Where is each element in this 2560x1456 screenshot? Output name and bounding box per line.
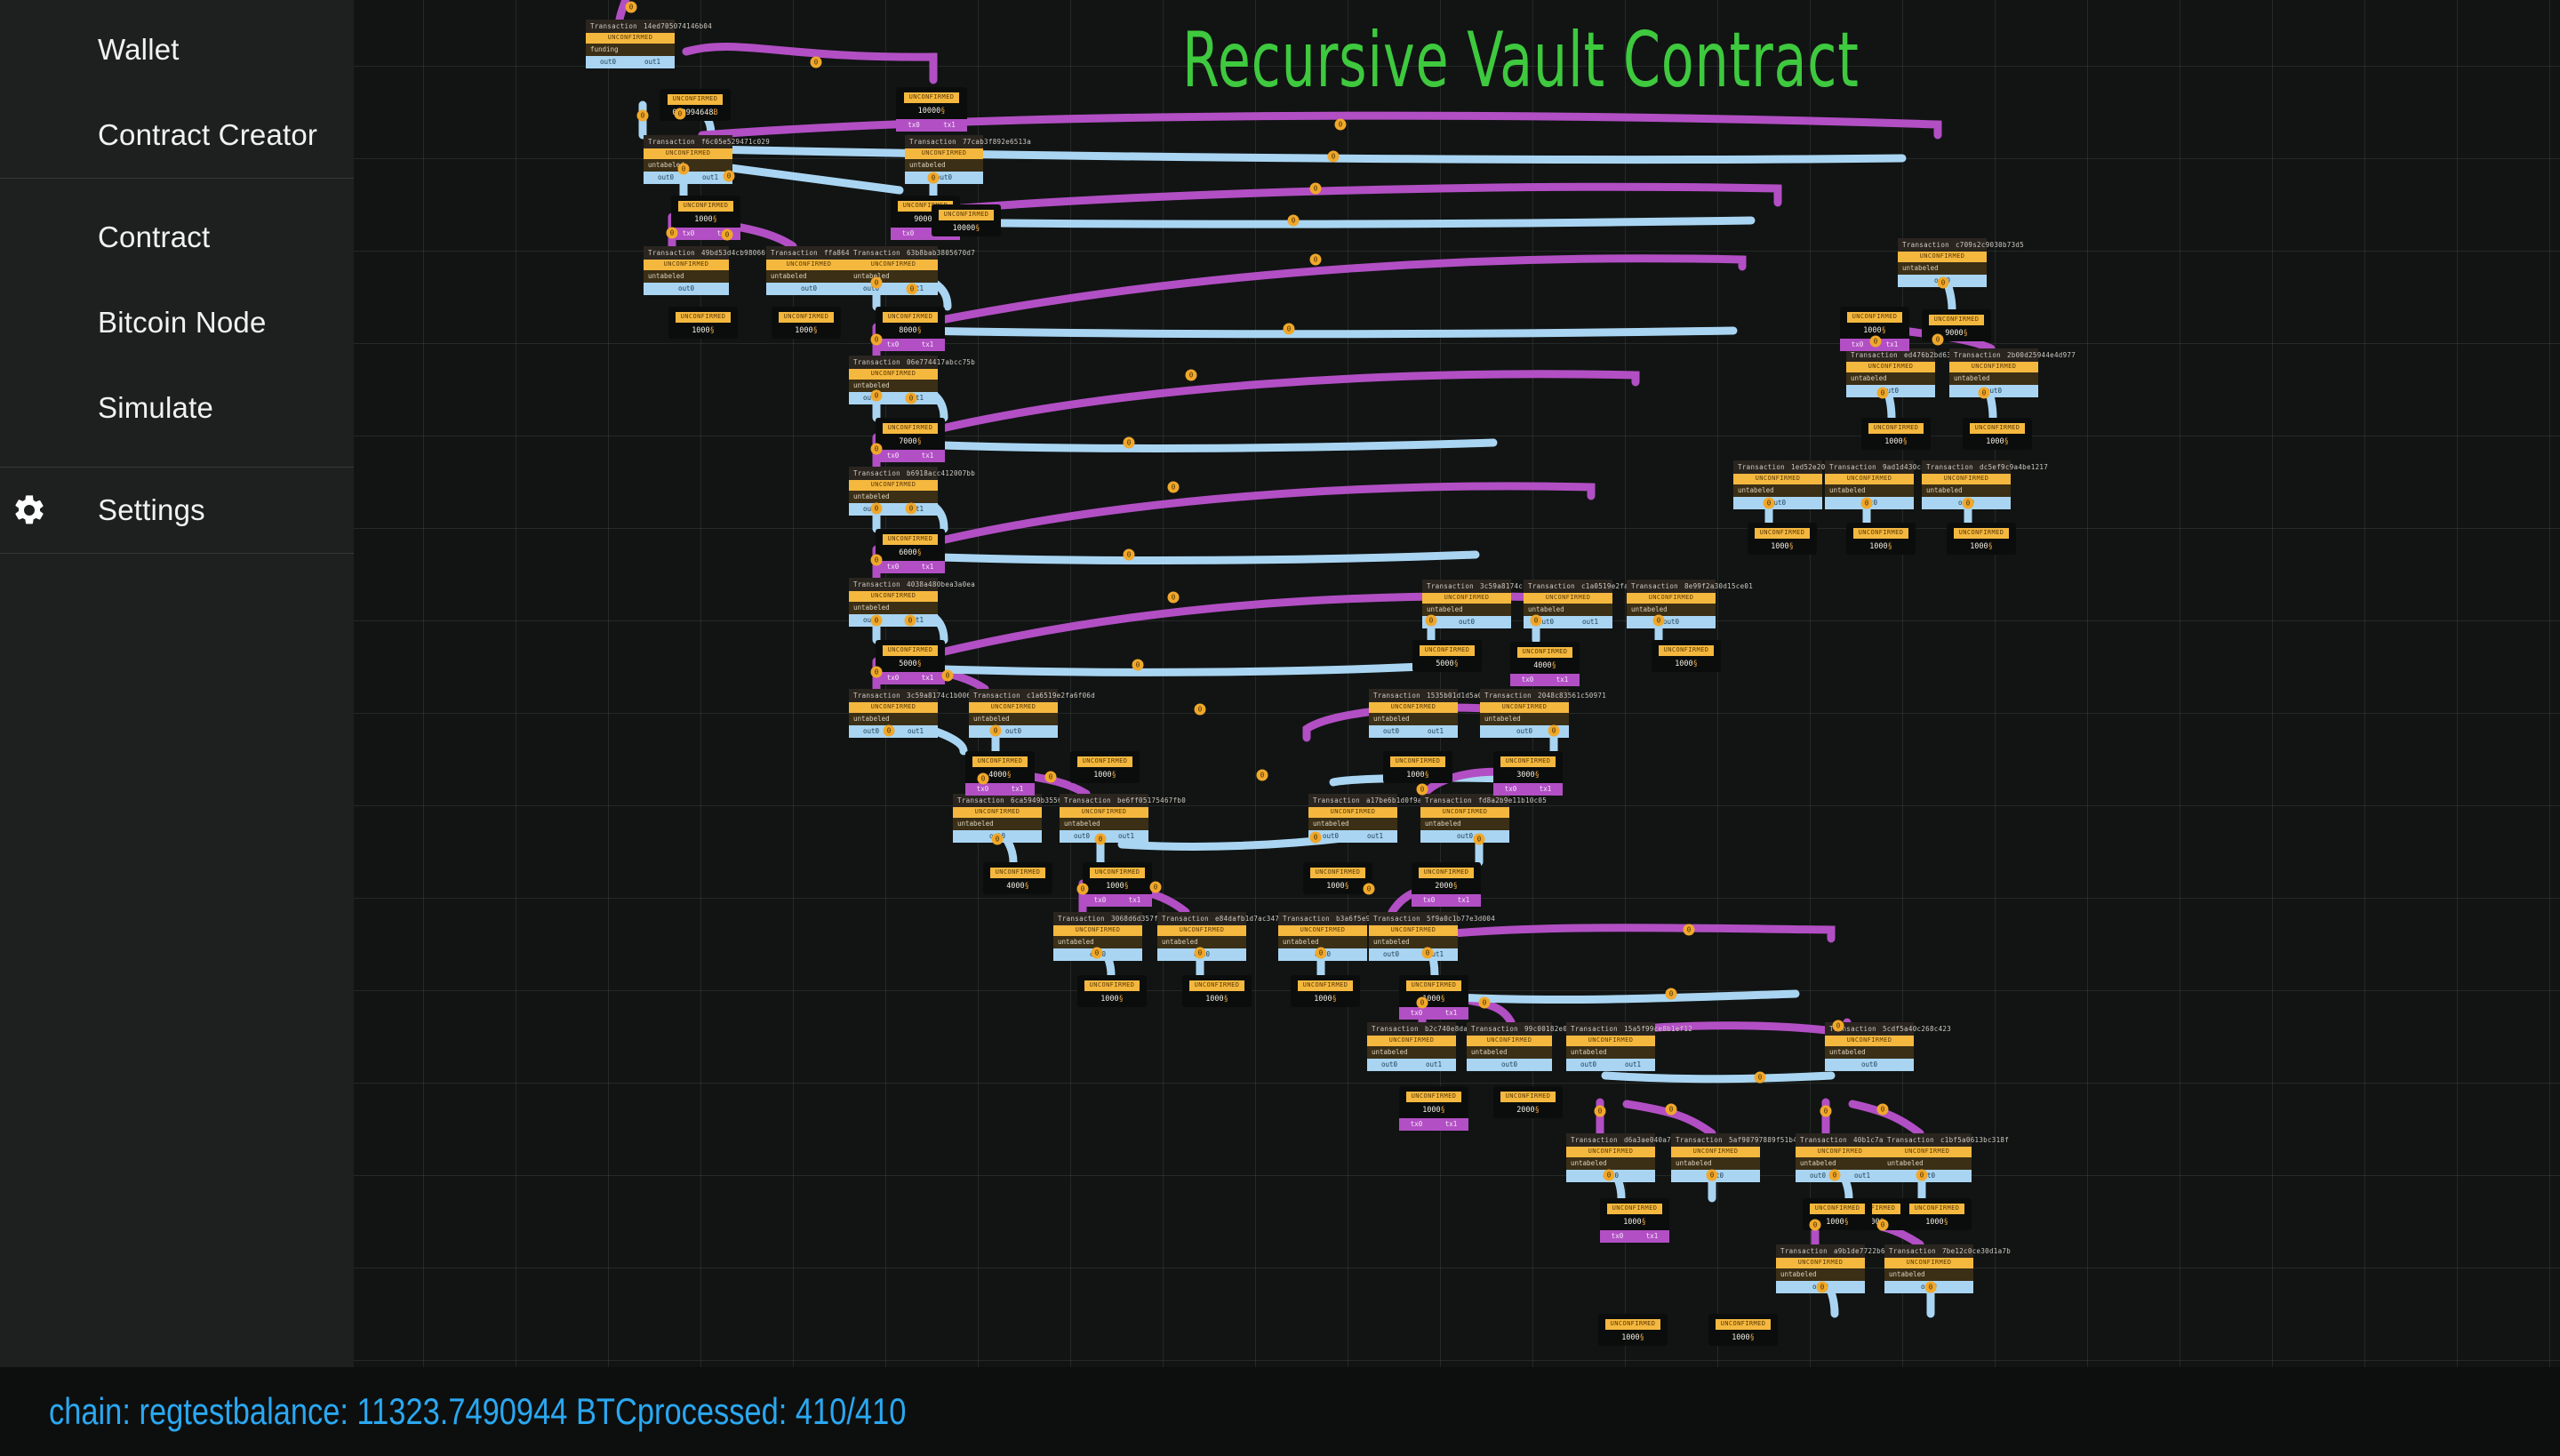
utxo-amount: 1000§	[1600, 1214, 1669, 1231]
transaction-header: Transactionffa8641749d159aa	[766, 246, 852, 260]
spend-port-1[interactable]: tx1	[943, 122, 956, 129]
status-badge: UNCONFIRMED	[1369, 925, 1458, 936]
utxo-node[interactable]: UNCONFIRMED1000§	[1598, 1314, 1668, 1346]
utxo-status-row: UNCONFIRMED	[1922, 309, 1991, 325]
transaction-label: untabeled	[1369, 713, 1458, 726]
utxo-amount: 1000§	[1182, 991, 1252, 1008]
output-port-0[interactable]: out0	[1383, 728, 1399, 735]
status-badge: UNCONFIRMED	[766, 260, 852, 270]
utxo-node[interactable]: UNCONFIRMED1000§	[1383, 751, 1452, 783]
utxo-node[interactable]: UNCONFIRMED1000§	[668, 307, 738, 339]
transaction-label: funding	[586, 44, 675, 57]
transaction-label: untabeled	[1060, 818, 1148, 831]
spend-port-0[interactable]: tx0	[1411, 1010, 1423, 1017]
transaction-label: untabeled	[849, 602, 938, 615]
transaction-label: untabeled	[1420, 818, 1509, 831]
edge-index-badge: 0	[871, 667, 883, 678]
status-badge: UNCONFIRMED	[1298, 980, 1354, 991]
utxo-amount: 1000§	[1399, 991, 1468, 1008]
utxo-node[interactable]: UNCONFIRMED1000§tx0tx1	[1083, 862, 1152, 907]
transaction-label: untabeled	[1369, 936, 1458, 949]
utxo-status-row: UNCONFIRMED	[1077, 975, 1147, 991]
utxo-node[interactable]: UNCONFIRMED1000§	[1748, 523, 1817, 555]
status-badge: UNCONFIRMED	[1825, 1036, 1914, 1046]
currency-symbol-icon: §	[1988, 542, 1993, 551]
utxo-node[interactable]: UNCONFIRMED1000§	[1846, 523, 1916, 555]
transaction-node[interactable]: Transaction5f9a0c1b77e3d004UNCONFIRMEDun…	[1369, 912, 1458, 961]
utxo-node[interactable]: UNCONFIRMED4000§	[983, 862, 1052, 894]
output-port-0[interactable]: out0	[801, 285, 817, 292]
output-port-0[interactable]: out0	[1516, 728, 1532, 735]
utxo-node[interactable]: UNCONFIRMED5000§tx0tx1	[876, 640, 945, 684]
transaction-prefix: Transaction	[1887, 1136, 1934, 1144]
currency-symbol-icon: §	[1964, 329, 1968, 338]
spend-port-0[interactable]: tx0	[887, 675, 900, 682]
sidebar-item-wallet[interactable]: Wallet	[0, 7, 354, 92]
transaction-node[interactable]: Transactionb2c740e8da91033bUNCONFIRMEDun…	[1367, 1022, 1456, 1071]
output-port-0[interactable]: out0	[1323, 833, 1339, 840]
utxo-amount: 1000§	[1963, 434, 2032, 451]
utxo-amount: 1000§	[1077, 991, 1147, 1008]
transaction-node[interactable]: Transaction1ed52e20ab1163baUNCONFIRMEDun…	[1733, 460, 1822, 509]
utxo-node[interactable]: UNCONFIRMED5000§	[1412, 640, 1482, 672]
transaction-label: untabeled	[1898, 262, 1987, 276]
status-badge: UNCONFIRMED	[1566, 1147, 1655, 1157]
spend-port-1[interactable]: tx1	[1458, 897, 1470, 904]
utxo-node[interactable]: UNCONFIRMED4000§tx0tx1	[965, 751, 1035, 796]
output-port-0[interactable]: out0	[600, 59, 616, 66]
utxo-node[interactable]: UNCONFIRMED2000§tx0tx1	[1412, 862, 1481, 907]
edge-index-badge: 0	[1284, 324, 1295, 335]
output-port-0[interactable]: out0	[1383, 951, 1399, 958]
spend-port-0[interactable]: tx0	[1094, 897, 1107, 904]
transaction-header: Transaction1ed52e20ab1163ba	[1733, 460, 1822, 474]
spend-port-1[interactable]: tx1	[1556, 676, 1569, 684]
edge-index-badge: 0	[1417, 784, 1428, 796]
transaction-outputs: out0	[1846, 385, 1935, 397]
transaction-hash: 7be12c0ce30d1a7b	[1942, 1247, 2011, 1255]
spend-port-0[interactable]: tx0	[1522, 676, 1534, 684]
transaction-prefix: Transaction	[909, 138, 956, 146]
spend-port-0[interactable]: tx0	[887, 452, 900, 460]
transaction-prefix: Transaction	[1484, 692, 1532, 700]
utxo-node[interactable]: UNCONFIRMED1000§	[1070, 751, 1140, 783]
transaction-header: Transaction14ed705074146b04	[586, 20, 675, 33]
edge-index-badge: 0	[1124, 437, 1135, 449]
status-badge: UNCONFIRMED	[1420, 645, 1476, 656]
output-port-1[interactable]: out1	[1428, 728, 1444, 735]
output-port-0[interactable]: out0	[1459, 619, 1475, 626]
output-port-1[interactable]: out1	[644, 59, 660, 66]
utxo-amount: 2000§	[1412, 878, 1481, 895]
sidebar-item-contract[interactable]: Contract	[0, 195, 354, 280]
utxo-node[interactable]: UNCONFIRMED1000§	[1861, 418, 1931, 450]
spend-port-1[interactable]: tx1	[1129, 897, 1141, 904]
status-badge: UNCONFIRMED	[939, 210, 995, 220]
output-port-1[interactable]: out1	[1625, 1061, 1641, 1068]
spend-port-0[interactable]: tx0	[887, 564, 900, 571]
sidebar-item-bitcoin-node[interactable]: Bitcoin Node	[0, 280, 354, 365]
utxo-node[interactable]: UNCONFIRMED1000§	[1077, 975, 1147, 1007]
status-badge: UNCONFIRMED	[1278, 925, 1367, 936]
spend-port-1[interactable]: tx1	[1540, 786, 1552, 793]
status-badge: UNCONFIRMED	[1884, 1258, 1973, 1268]
sidebar-item-contract-creator[interactable]: Contract Creator	[0, 92, 354, 178]
transaction-node[interactable]: Transaction8e99f2a30d15ce01UNCONFIRMEDun…	[1627, 580, 1716, 628]
utxo-spend-ports: tx0tx1	[876, 450, 945, 462]
currency-symbol-icon: §	[1535, 1106, 1540, 1115]
currency-symbol-icon: §	[1441, 995, 1445, 1004]
transaction-node[interactable]: Transactioned476b2bd6301904UNCONFIRMEDun…	[1846, 348, 1935, 397]
transaction-header: Transactionc1a0519e2fa6f06d	[1524, 580, 1612, 593]
transaction-outputs: out0out1	[1566, 1059, 1655, 1071]
utxo-amount: 4000§	[983, 878, 1052, 895]
output-port-0[interactable]: out0	[1861, 1061, 1877, 1068]
status-badge: UNCONFIRMED	[1627, 593, 1716, 604]
edge-index-badge: 0	[1316, 948, 1327, 959]
utxo-status-row: UNCONFIRMED	[1598, 1314, 1668, 1330]
transaction-node[interactable]: Transactionffa8641749d159aaUNCONFIRMEDun…	[766, 246, 852, 295]
transaction-label: untabeled	[1922, 484, 2011, 498]
transaction-node[interactable]: Transaction77cab3f892e6513aUNCONFIRMEDun…	[905, 135, 983, 184]
utxo-node[interactable]: UNCONFIRMED1000§	[1708, 1314, 1778, 1346]
transaction-header: Transactionb2c740e8da91033b	[1367, 1022, 1456, 1036]
utxo-status-row: UNCONFIRMED	[1412, 862, 1481, 878]
output-port-1[interactable]: out1	[908, 728, 924, 735]
spend-port-1[interactable]: tx1	[922, 452, 934, 460]
output-port-0[interactable]: out0	[1005, 728, 1021, 735]
utxo-node[interactable]: UNCONFIRMED1000§	[1902, 1198, 1972, 1230]
transaction-prefix: Transaction	[648, 249, 695, 257]
status-text: chain: regtestbalance: 11323.7490944 BTC…	[49, 1390, 906, 1433]
utxo-status-row: UNCONFIRMED	[896, 87, 967, 103]
status-badge: UNCONFIRMED	[1157, 925, 1246, 936]
utxo-status-row: UNCONFIRMED	[1291, 975, 1360, 991]
sidebar: WalletContract Creator ContractBitcoin N…	[0, 0, 354, 1367]
output-port-1[interactable]: out1	[1426, 1061, 1442, 1068]
transaction-header: Transaction3c59a8174c1b0061	[849, 689, 938, 702]
edge-index-badge: 0	[1195, 948, 1206, 959]
edge-index-badge: 0	[871, 390, 883, 402]
transaction-header: Transactionfd8a2b9e11b10c05	[1420, 794, 1509, 807]
transaction-hash: 15a5f99ce8b1ef12	[1624, 1025, 1692, 1033]
utxo-status-row: UNCONFIRMED	[1510, 642, 1580, 658]
transaction-hash: 63b8bab3805670d7	[907, 249, 975, 257]
utxo-node[interactable]: UNCONFIRMED2000§	[1493, 1086, 1563, 1118]
output-port-0[interactable]: out0	[1663, 619, 1679, 626]
edge-index-badge: 0	[1150, 882, 1162, 893]
utxo-status-row: UNCONFIRMED	[1383, 751, 1452, 767]
status-badge: UNCONFIRMED	[1898, 252, 1987, 262]
currency-symbol-icon: §	[1345, 882, 1349, 891]
spend-port-0[interactable]: tx0	[683, 230, 695, 237]
transaction-prefix: Transaction	[1889, 1247, 1936, 1255]
utxo-node[interactable]: UNCONFIRMED1000§	[1652, 640, 1721, 672]
transaction-label: untabeled	[1733, 484, 1822, 498]
status-badge: UNCONFIRMED	[1853, 528, 1909, 539]
spend-port-0[interactable]: tx0	[1612, 1233, 1624, 1240]
utxo-status-row: UNCONFIRMED	[876, 307, 945, 323]
spend-port-1[interactable]: tx1	[1646, 1233, 1659, 1240]
currency-symbol-icon: §	[1007, 771, 1012, 780]
utxo-amount: 2000§	[1493, 1102, 1563, 1119]
transaction-label: untabeled	[1367, 1046, 1456, 1060]
transaction-label: untabeled	[1949, 372, 2038, 386]
transaction-label: untabeled	[849, 270, 938, 284]
currency-symbol-icon: §	[1112, 771, 1116, 780]
utxo-spend-ports: tx0tx1	[965, 783, 1035, 796]
status-badge: UNCONFIRMED	[678, 201, 734, 212]
sidebar-item-settings[interactable]: Settings	[0, 468, 354, 553]
edge-index-badge: 0	[1666, 1104, 1677, 1116]
edge-index-badge: 0	[675, 108, 686, 120]
currency-symbol-icon: §	[1844, 1218, 1849, 1227]
output-port-0[interactable]: out0	[1074, 833, 1090, 840]
spend-port-0[interactable]: tx0	[902, 230, 915, 237]
utxo-node[interactable]: UNCONFIRMED10000§tx0tx1	[896, 87, 967, 132]
spend-port-0[interactable]: tx0	[1505, 786, 1517, 793]
utxo-node[interactable]: UNCONFIRMED1000§	[1947, 523, 2016, 555]
spend-port-1[interactable]: tx1	[922, 564, 934, 571]
transaction-node[interactable]: Transaction06e774417abcc75bUNCONFIRMEDun…	[849, 356, 938, 404]
utxo-node[interactable]: UNCONFIRMED4000§tx0tx1	[1510, 642, 1580, 686]
utxo-spend-ports: tx0tx1	[1493, 783, 1563, 796]
transaction-prefix: Transaction	[973, 692, 1020, 700]
utxo-status-row: UNCONFIRMED	[876, 418, 945, 434]
utxo-node[interactable]: UNCONFIRMED0.9994648Ƀ	[660, 89, 731, 121]
transaction-outputs: out0	[1733, 497, 1822, 509]
utxo-status-row: UNCONFIRMED	[1846, 523, 1916, 539]
edge-index-badge: 0	[1817, 1282, 1828, 1293]
edge-index-badge: 0	[1077, 884, 1089, 895]
transaction-header: Transaction2b00d25944e4d977	[1949, 348, 2038, 362]
utxo-status-row: UNCONFIRMED	[1902, 1198, 1972, 1214]
status-badge: UNCONFIRMED	[1369, 702, 1458, 713]
spend-port-1[interactable]: tx1	[922, 341, 934, 348]
transaction-label: untabeled	[1884, 1268, 1973, 1282]
status-badge: UNCONFIRMED	[1796, 1147, 1884, 1157]
spend-port-1[interactable]: tx1	[922, 675, 934, 682]
utxo-amount: 7000§	[876, 434, 945, 451]
spend-port-0[interactable]: tx0	[887, 341, 900, 348]
transaction-header: Transaction63b8bab3805670d7	[849, 246, 938, 260]
status-badge: UNCONFIRMED	[1406, 1092, 1462, 1102]
transaction-header: Transactiond6a3ae040a73b50d	[1566, 1133, 1655, 1147]
utxo-spend-ports: tx0tx1	[1399, 1007, 1468, 1020]
status-badge: UNCONFIRMED	[1659, 645, 1715, 656]
spend-port-1[interactable]: tx1	[1445, 1010, 1458, 1017]
output-port-1[interactable]: out1	[1118, 833, 1134, 840]
utxo-node[interactable]: UNCONFIRMED1000§	[1963, 418, 2032, 450]
spend-port-0[interactable]: tx0	[1852, 341, 1864, 348]
utxo-node[interactable]: UNCONFIRMED1000§	[1303, 862, 1372, 894]
utxo-amount: 8000§	[876, 323, 945, 340]
sidebar-item-simulate[interactable]: Simulate	[0, 365, 354, 451]
transaction-node[interactable]: Transaction2b00d25944e4d977UNCONFIRMEDun…	[1949, 348, 2038, 397]
transaction-hash: 8e99f2a30d15ce01	[1684, 582, 1753, 590]
transaction-node[interactable]: Transaction15a5f99ce8b1ef12UNCONFIRMEDun…	[1566, 1022, 1655, 1071]
utxo-status-row: UNCONFIRMED	[1303, 862, 1372, 878]
utxo-node[interactable]: UNCONFIRMED1000§	[772, 307, 841, 339]
utxo-node[interactable]: UNCONFIRMED10000§	[932, 204, 1001, 236]
status-badge: UNCONFIRMED	[1422, 593, 1511, 604]
sidebar-item-label: Settings	[98, 493, 205, 527]
transaction-prefix: Transaction	[1058, 915, 1105, 923]
transaction-prefix: Transaction	[1829, 463, 1876, 471]
transaction-header: Transactionb6918acc412007bb	[849, 467, 938, 480]
status-badge: UNCONFIRMED	[644, 148, 732, 159]
transaction-node[interactable]: Transaction49bd53d4cb98066fUNCONFIRMEDun…	[644, 246, 729, 295]
status-badge: UNCONFIRMED	[644, 260, 729, 270]
utxo-node[interactable]: UNCONFIRMED1000§tx0tx1	[1399, 1086, 1468, 1131]
edge-index-badge: 0	[724, 171, 735, 182]
transaction-hash: e84dafb1d7ac3471	[1215, 915, 1284, 923]
utxo-node[interactable]: UNCONFIRMED3000§tx0tx1	[1493, 751, 1563, 796]
utxo-node[interactable]: UNCONFIRMED8000§tx0tx1	[876, 307, 945, 351]
transaction-hash: 14ed705074146b04	[644, 22, 712, 30]
output-port-0[interactable]: out0	[1501, 1061, 1517, 1068]
currency-symbol-icon: §	[1425, 771, 1429, 780]
spend-port-0[interactable]: tx0	[908, 122, 920, 129]
utxo-status-row: UNCONFIRMED	[1083, 862, 1152, 878]
output-port-1[interactable]: out1	[1367, 833, 1383, 840]
transaction-header: Transaction4038a480bea3a0ea	[849, 578, 938, 591]
transaction-header: Transactionb3a6f5e9c0154b21	[1278, 912, 1367, 925]
transaction-outputs: out0	[1627, 616, 1716, 628]
transaction-label: untabeled	[1422, 604, 1511, 617]
utxo-node[interactable]: UNCONFIRMED1000§	[1182, 975, 1252, 1007]
output-port-0[interactable]: out0	[658, 174, 674, 181]
transaction-header: Transaction6ca5949b3556a220	[953, 794, 1042, 807]
utxo-status-row: UNCONFIRMED	[1803, 1198, 1872, 1214]
transaction-prefix: Transaction	[1313, 796, 1360, 804]
status-badge: UNCONFIRMED	[1500, 756, 1556, 767]
transaction-prefix: Transaction	[1676, 1136, 1723, 1144]
edge-index-badge: 0	[871, 555, 883, 566]
edge-index-badge: 0	[1925, 1282, 1937, 1293]
edge-index-badge: 0	[978, 773, 989, 785]
edge-index-badge: 0	[1963, 498, 1974, 509]
transaction-hash: c1bf5a0613bc318f	[1940, 1136, 2009, 1144]
transaction-node[interactable]: Transactionb6918acc412007bbUNCONFIRMEDun…	[849, 467, 938, 516]
transaction-node[interactable]: Transactionc1a6519e2fa6f06dUNCONFIRMEDun…	[969, 689, 1058, 738]
edge-index-badge: 0	[1310, 832, 1322, 844]
utxo-node[interactable]: UNCONFIRMED1000§tx0tx1	[1399, 975, 1468, 1020]
status-badge: UNCONFIRMED	[1090, 868, 1146, 878]
transaction-header: Transaction99c00182e0f4a71e	[1467, 1022, 1552, 1036]
spend-port-1[interactable]: tx1	[1012, 786, 1024, 793]
edge-index-badge: 0	[1666, 988, 1677, 1000]
spend-port-1[interactable]: tx1	[1445, 1121, 1458, 1128]
sidebar-group-main: ContractBitcoin NodeSimulate	[0, 179, 354, 468]
output-port-0[interactable]: out0	[1457, 833, 1473, 840]
edge-index-badge: 0	[992, 834, 1004, 845]
transaction-header: Transaction9ad1d430c84b3900	[1825, 460, 1914, 474]
currency-symbol-icon: §	[917, 660, 922, 668]
status-badge: UNCONFIRMED	[1566, 1036, 1655, 1046]
transaction-node[interactable]: Transaction99c00182e0f4a71eUNCONFIRMEDun…	[1467, 1022, 1552, 1071]
status-badge: UNCONFIRMED	[1524, 593, 1612, 604]
output-port-1[interactable]: out1	[702, 174, 718, 181]
utxo-amount: 1000§	[1598, 1330, 1668, 1347]
transaction-node[interactable]: Transactiona17be6b1d0f9a032UNCONFIRMEDun…	[1308, 794, 1397, 843]
edge-index-badge: 0	[1707, 1170, 1718, 1181]
utxo-status-row: UNCONFIRMED	[1840, 307, 1909, 323]
transaction-prefix: Transaction	[957, 796, 1004, 804]
output-port-0[interactable]: out0	[1810, 1172, 1826, 1180]
edge-index-badge: 0	[1474, 834, 1485, 845]
status-badge: UNCONFIRMED	[1970, 423, 2026, 434]
utxo-amount: 1000§	[1291, 991, 1360, 1008]
edge-index-badge: 0	[1310, 183, 1322, 195]
spend-port-0[interactable]: tx0	[1423, 897, 1436, 904]
transaction-header: Transaction7be12c0ce30d1a7b	[1884, 1244, 1973, 1258]
spend-port-0[interactable]: tx0	[1411, 1121, 1423, 1128]
transaction-prefix: Transaction	[1425, 796, 1472, 804]
status-badge: UNCONFIRMED	[1189, 980, 1245, 991]
output-port-0[interactable]: out0	[678, 285, 694, 292]
transaction-header: Transaction15a5f99ce8b1ef12	[1566, 1022, 1655, 1036]
transaction-prefix: Transaction	[1373, 692, 1420, 700]
spend-port-1[interactable]: tx1	[1886, 341, 1899, 348]
transaction-prefix: Transaction	[1571, 1025, 1618, 1033]
utxo-node[interactable]: UNCONFIRMED1000§	[1291, 975, 1360, 1007]
edge-index-badge: 0	[1364, 884, 1375, 895]
transaction-node[interactable]: Transaction4038a480bea3a0eaUNCONFIRMEDun…	[849, 578, 938, 627]
output-port-1[interactable]: out1	[1854, 1172, 1870, 1180]
edge-index-badge: 0	[1653, 615, 1665, 627]
utxo-spend-ports: tx0tx1	[1600, 1230, 1669, 1243]
graph-canvas[interactable]	[0, 0, 2560, 1456]
gear-icon	[9, 490, 50, 531]
status-badge: UNCONFIRMED	[1480, 702, 1569, 713]
transaction-hash: fd8a2b9e11b10c05	[1478, 796, 1547, 804]
transaction-label: untabeled	[849, 380, 938, 393]
transaction-node[interactable]: Transactionf6c05e529471c029UNCONFIRMEDun…	[644, 135, 732, 184]
transaction-node[interactable]: Transaction63b8bab3805670d7UNCONFIRMEDun…	[849, 246, 938, 295]
output-port-0[interactable]: out0	[1381, 1061, 1397, 1068]
utxo-status-row: UNCONFIRMED	[1399, 975, 1468, 991]
utxo-status-row: UNCONFIRMED	[1748, 523, 1817, 539]
transaction-node[interactable]: Transactionfd8a2b9e11b10c05UNCONFIRMEDun…	[1420, 794, 1509, 843]
utxo-amount: 1000§	[1070, 767, 1140, 784]
utxo-status-row: UNCONFIRMED	[965, 751, 1035, 767]
currency-symbol-icon: §	[1332, 995, 1337, 1004]
utxo-node[interactable]: UNCONFIRMED6000§tx0tx1	[876, 529, 945, 573]
transaction-node[interactable]: Transaction14ed705074146b04UNCONFIRMEDfu…	[586, 20, 675, 68]
output-port-1[interactable]: out1	[1582, 619, 1598, 626]
utxo-node[interactable]: UNCONFIRMED7000§tx0tx1	[876, 418, 945, 462]
status-badge: UNCONFIRMED	[883, 312, 939, 323]
transaction-node[interactable]: Transaction1535b01d1d5a00e1UNCONFIRMEDun…	[1369, 689, 1458, 738]
app-root: Transaction14ed705074146b04UNCONFIRMEDfu…	[0, 0, 2560, 1456]
transaction-label: untabeled	[1566, 1157, 1655, 1171]
utxo-node[interactable]: UNCONFIRMED1000§tx0tx1	[1600, 1198, 1669, 1243]
utxo-amount: 1000§	[1399, 1102, 1468, 1119]
utxo-amount: 1000§	[1083, 878, 1152, 895]
transaction-prefix: Transaction	[1283, 915, 1330, 923]
edge-index-badge: 0	[1979, 388, 1990, 399]
status-badge: UNCONFIRMED	[1420, 807, 1509, 818]
currency-symbol-icon: §	[1693, 660, 1698, 668]
output-port-0[interactable]: out0	[1580, 1061, 1596, 1068]
status-badge: UNCONFIRMED	[1776, 1258, 1865, 1268]
edge-index-badge: 0	[626, 2, 637, 13]
spend-port-0[interactable]: tx0	[977, 786, 989, 793]
status-badge: UNCONFIRMED	[1077, 756, 1133, 767]
output-port-0[interactable]: out0	[863, 728, 879, 735]
utxo-amount: 1000§	[1652, 656, 1721, 673]
